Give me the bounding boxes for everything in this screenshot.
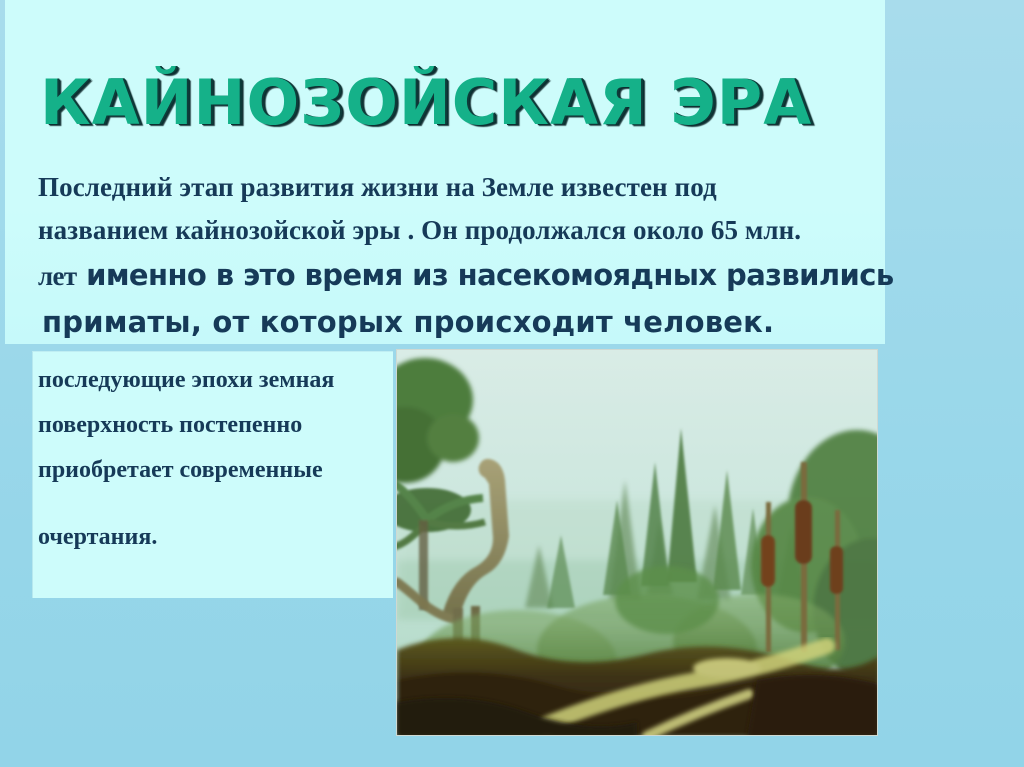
landscape-illustration [397, 350, 878, 736]
top-paragraph-line-4: приматы, от которых происходит человек. [38, 299, 878, 345]
top-paragraph-line-3-lead: лет [38, 261, 77, 291]
prehistoric-landscape-photo [396, 349, 878, 736]
top-paragraph-line-2: названием кайнозойской эры . Он продолжа… [38, 209, 878, 252]
top-paragraph-line-3-text: именно в это время из насекомоядных разв… [86, 258, 893, 292]
slide: КАЙНОЗОЙСКАЯ ЭРА Последний этап развития… [0, 0, 1024, 767]
top-paragraph-line-1: Последний этап развития жизни на Земле и… [38, 166, 878, 209]
page-title: КАЙНОЗОЙСКАЯ ЭРА [40, 72, 812, 134]
top-paragraph: Последний этап развития жизни на Земле и… [38, 166, 878, 345]
bottom-paragraph: последующие эпохи земная поверхность пос… [38, 358, 388, 560]
top-paragraph-line-3: лет именно в это время из насекомоядных … [38, 252, 878, 299]
bottom-paragraph-line-4: очертания. [38, 515, 388, 560]
bottom-paragraph-line-2: поверхность постепенно [38, 403, 388, 448]
bottom-paragraph-spacer [38, 493, 388, 515]
bottom-paragraph-line-1: последующие эпохи земная [38, 358, 388, 403]
bottom-paragraph-line-3: приобретает современные [38, 448, 388, 493]
